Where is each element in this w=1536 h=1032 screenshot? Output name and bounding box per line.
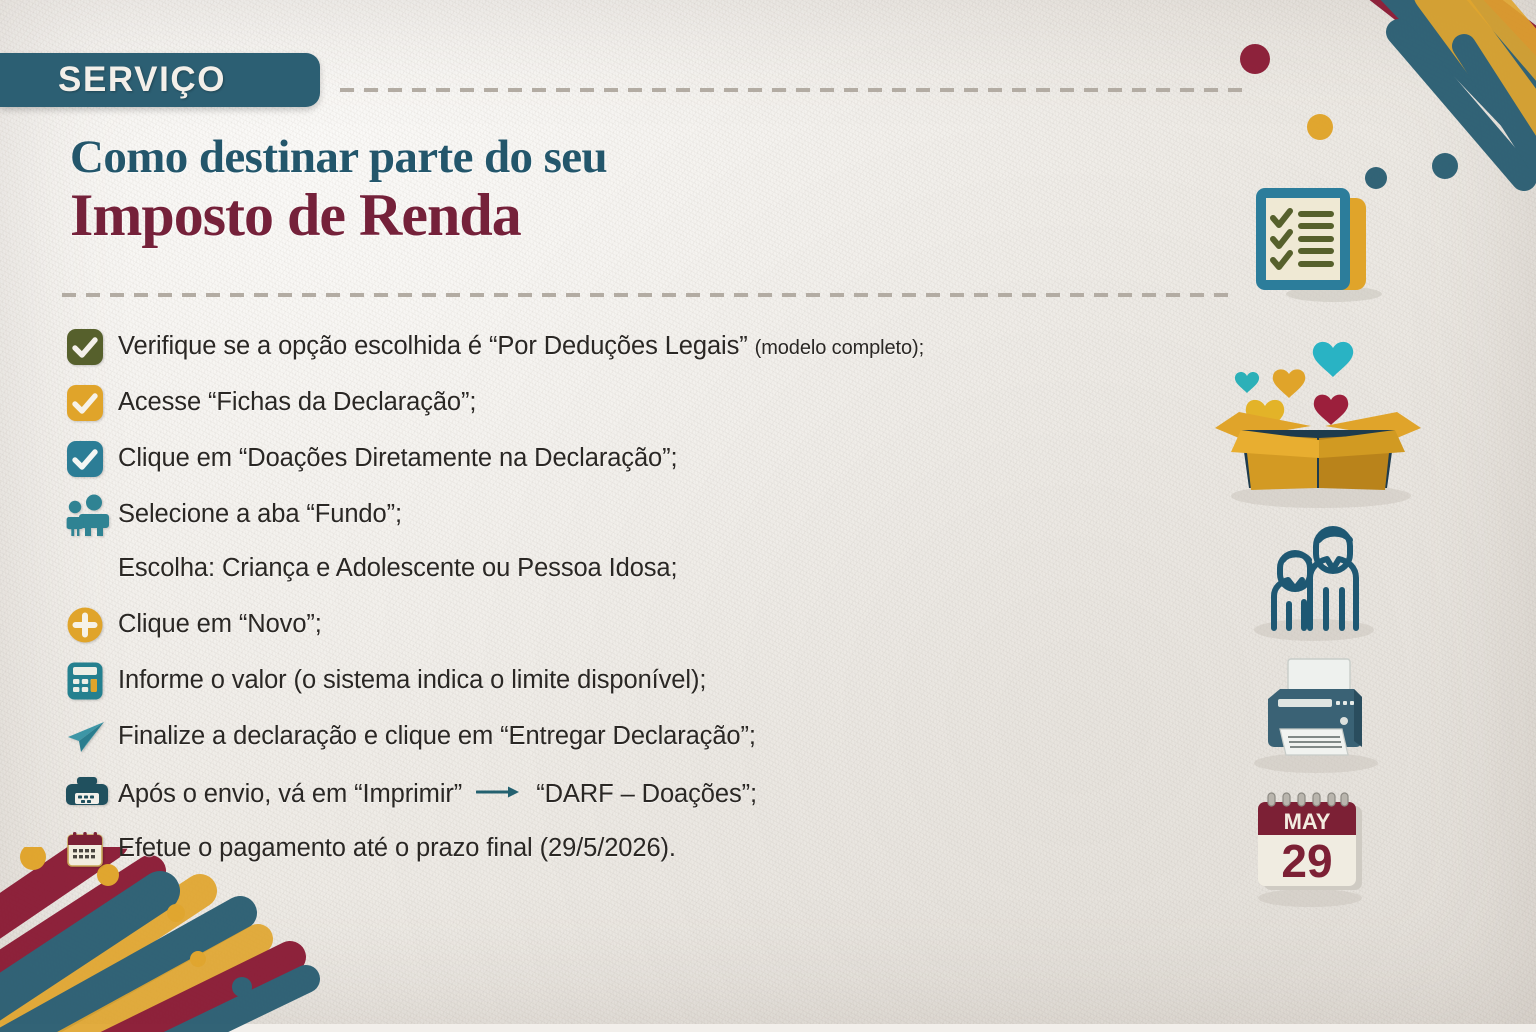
list-item-text: Escolha: Criança e Adolescente ou Pessoa…	[118, 549, 678, 583]
people-group-icon	[66, 495, 118, 535]
list-item: Escolha: Criança e Adolescente ou Pessoa…	[66, 549, 1156, 591]
list-item-text: Efetue o pagamento até o prazo final (29…	[118, 829, 676, 863]
list-item: Clique em “Doações Diretamente na Declar…	[66, 439, 1156, 481]
list-item: Acesse “Fichas da Declaração”;	[66, 383, 1156, 425]
calculator-icon	[66, 661, 118, 701]
list-item: Verifique se a opção escolhida é “Por De…	[66, 327, 1156, 369]
list-item: Após o envio, vá em “Imprimir” “DARF – D…	[66, 773, 1156, 815]
step-9-text-after: “DARF – Doações”;	[536, 780, 757, 808]
step-1-main: Verifique se a opção escolhida é “Por De…	[118, 332, 755, 360]
checkbox-olive-icon	[66, 327, 118, 367]
list-item: Finalize a declaração e clique em “Entre…	[66, 717, 1156, 759]
step-1-small: (modelo completo);	[755, 337, 924, 359]
page-title: Como destinar parte do seu Imposto de Re…	[70, 133, 607, 247]
checkbox-teal-icon	[66, 439, 118, 479]
dashed-rule-middle	[62, 293, 1238, 297]
plus-circle-icon	[66, 605, 118, 645]
list-item-text: Finalize a declaração e clique em “Entre…	[118, 717, 756, 751]
list-item-text: Informe o valor (o sistema indica o limi…	[118, 661, 706, 695]
donation-box-hearts-illustration	[1201, 330, 1436, 510]
list-item-text: Clique em “Doações Diretamente na Declar…	[118, 439, 678, 473]
service-tag: SERVIÇO	[0, 53, 320, 107]
list-item-text: Acesse “Fichas da Declaração”;	[118, 383, 476, 417]
list-item-text: Clique em “Novo”;	[118, 605, 322, 639]
list-item-text: Após o envio, vá em “Imprimir” “DARF – D…	[118, 773, 757, 809]
checkbox-gold-icon	[66, 383, 118, 423]
list-item: Efetue o pagamento até o prazo final (29…	[66, 829, 1156, 871]
calendar-month: MAY	[1284, 809, 1331, 834]
list-item-text: Verifique se a opção escolhida é “Por De…	[118, 327, 924, 361]
dashed-rule-top	[340, 88, 1244, 92]
printer-icon	[66, 773, 118, 813]
calendar-illustration: MAY 29	[1246, 792, 1376, 908]
calendar-small-icon	[66, 829, 118, 869]
title-line-1: Como destinar parte do seu	[70, 133, 607, 182]
list-item: Selecione a aba “Fundo”;	[66, 495, 1156, 537]
list-item: Clique em “Novo”;	[66, 605, 1156, 647]
checklist-clipboard-illustration	[1248, 178, 1388, 304]
right-arrow-icon	[476, 777, 522, 807]
two-people-illustration	[1244, 518, 1384, 646]
list-item: Informe o valor (o sistema indica o limi…	[66, 661, 1156, 703]
list-item-text: Selecione a aba “Fundo”;	[118, 495, 402, 529]
steps-list: Verifique se a opção escolhida é “Por De…	[66, 327, 1156, 885]
service-tag-label: SERVIÇO	[58, 60, 226, 100]
paper-plane-icon	[66, 717, 118, 757]
no-icon-spacer	[66, 549, 118, 589]
printer-illustration	[1244, 655, 1386, 775]
title-line-2: Imposto de Renda	[70, 184, 607, 248]
calendar-day: 29	[1281, 835, 1332, 887]
step-9-text-before: Após o envio, vá em “Imprimir”	[118, 780, 462, 808]
